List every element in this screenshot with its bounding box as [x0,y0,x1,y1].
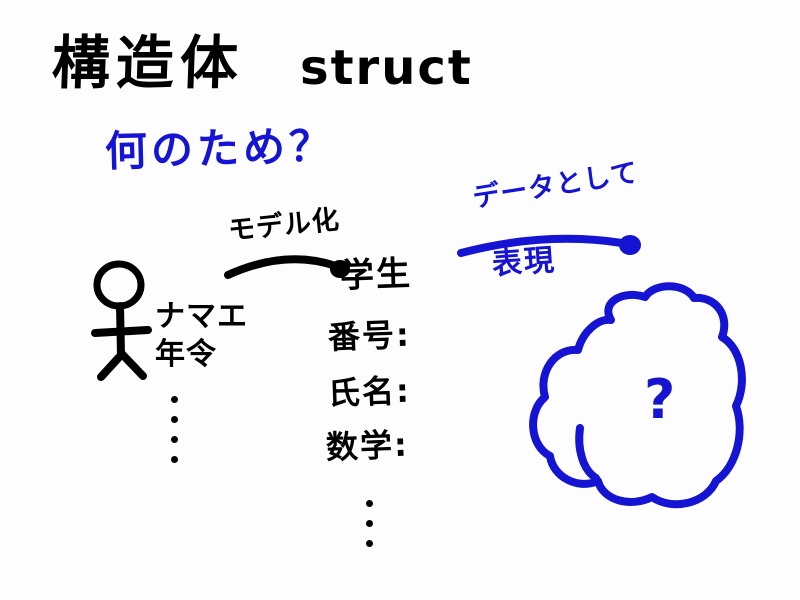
ellipsis-dot [171,416,178,423]
person-attribute-age: 年令 [155,340,217,370]
stick-figure-head [97,264,141,306]
person-attribute-name: ナマエ [155,302,248,332]
model-arrow-label: モデル化 [227,206,341,245]
cloud-inner-stroke [579,428,596,478]
data-arrow-label-below: 表現 [491,246,557,280]
data-arrow-head [619,235,641,255]
cloud-shape [533,286,742,504]
stick-figure-body [120,306,121,355]
whiteboard-canvas: 構造体 struct 何のため？ モデル化 データとして 表現 ナマエ 年令 学… [0,0,800,600]
ellipsis-dot [171,436,178,443]
struct-ellipsis [366,500,373,560]
ellipsis-dot [366,540,373,547]
ellipsis-dot [366,500,373,507]
page-title-english: struct [300,44,473,92]
model-arrow-line [228,259,336,275]
person-ellipsis [171,396,178,476]
stick-figure-arms [95,330,148,333]
struct-title: 学生 [339,257,412,293]
ellipsis-dot [171,456,178,463]
struct-field-fullname: 氏名: [327,375,411,410]
struct-field-number: 番号: [327,319,411,354]
ellipsis-dot [366,520,373,527]
ellipsis-dot [171,396,178,403]
data-arrow-label-above: データとして [471,159,640,212]
stick-figure-legs [101,354,143,377]
purpose-question: 何のため？ [104,125,335,173]
struct-field-math: 数学: [325,429,409,464]
page-title-kanji: 構造体 [51,34,245,92]
cloud-question-mark: ? [644,373,675,427]
